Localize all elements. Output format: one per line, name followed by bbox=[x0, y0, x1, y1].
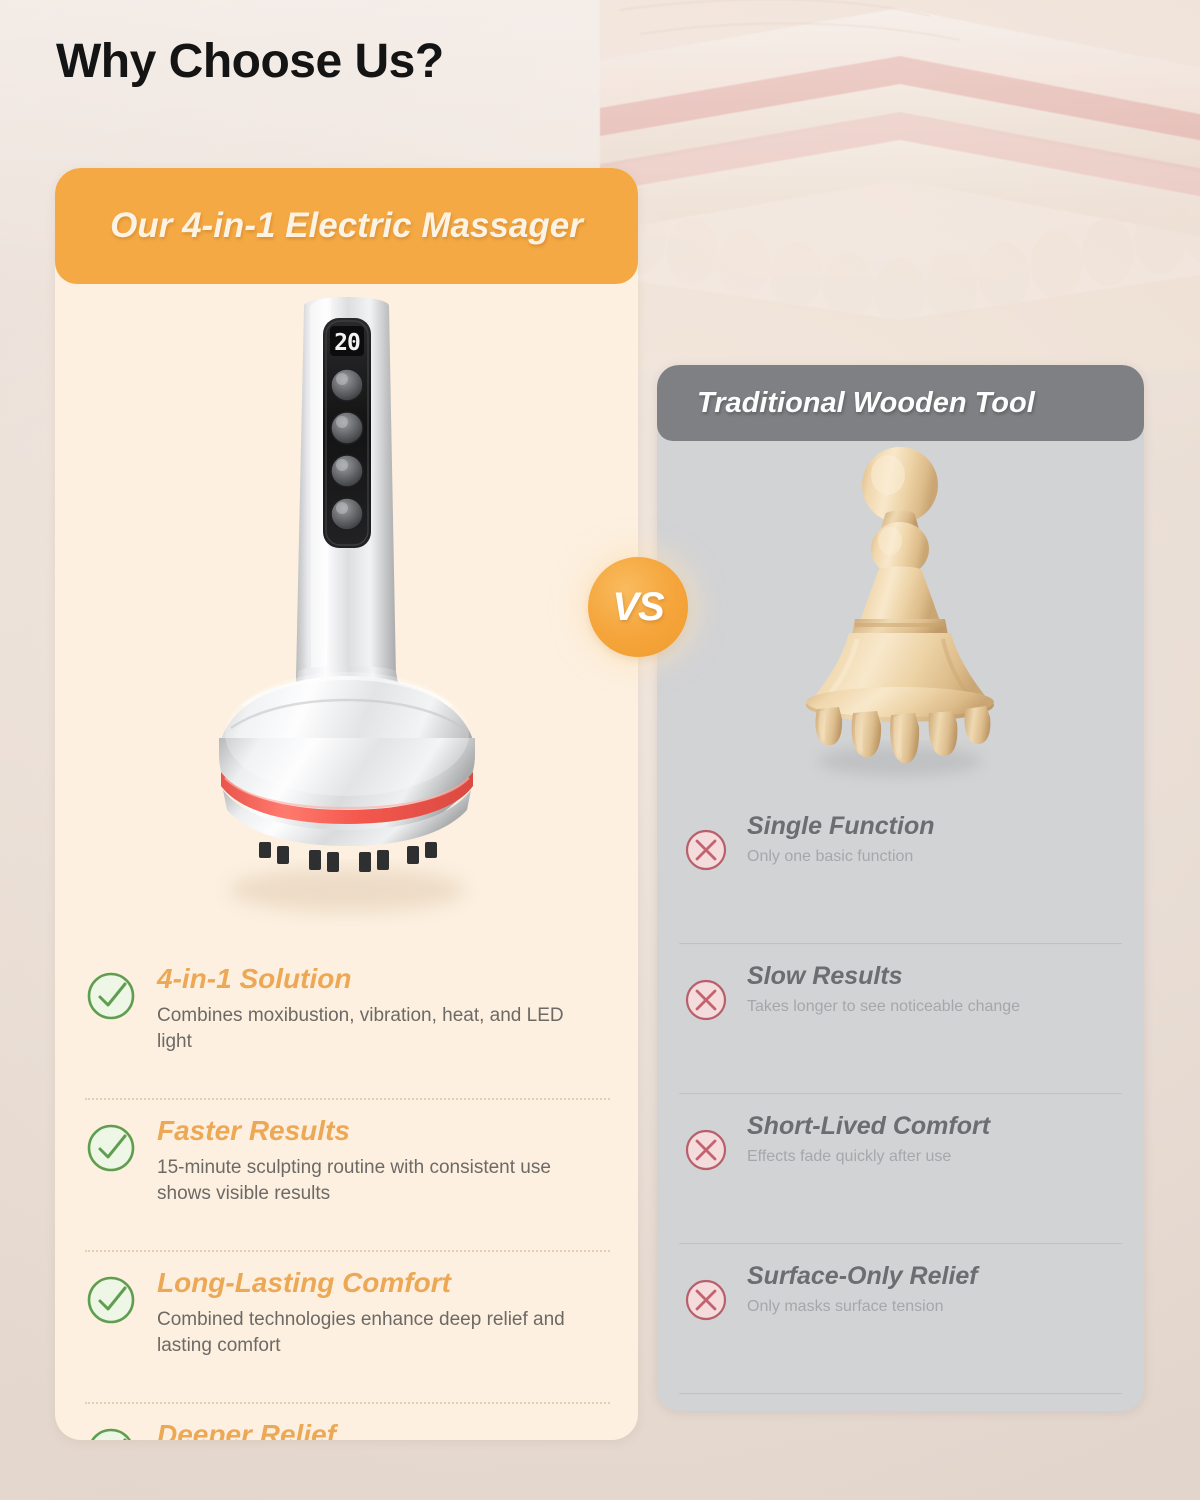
cross-circle-icon bbox=[683, 1277, 729, 1323]
limitation-row: Short-Lived Comfort Effects fade quickly… bbox=[657, 1095, 1144, 1245]
page-title: Why Choose Us? bbox=[56, 34, 444, 89]
our-product-header: Our 4-in-1 Electric Massager bbox=[55, 168, 638, 284]
wooden-tool-header: Traditional Wooden Tool bbox=[657, 365, 1144, 441]
vs-label: VS bbox=[612, 585, 663, 630]
wooden-tool-header-label: Traditional Wooden Tool bbox=[697, 387, 1035, 420]
check-circle-icon bbox=[85, 1426, 137, 1440]
limitation-title: Slow Results bbox=[747, 963, 1020, 991]
wooden-tool-limitation-list: Single Function Only one basic function … bbox=[657, 795, 1144, 1395]
feature-row: Deeper Relief Deeply penetrates and targ… bbox=[55, 1404, 638, 1440]
limitation-row: Slow Results Takes longer to see noticea… bbox=[657, 945, 1144, 1095]
our-product-header-label: Our 4-in-1 Electric Massager bbox=[80, 205, 613, 246]
wooden-tool-image bbox=[657, 443, 1144, 793]
feature-description: Combines moxibustion, vibration, heat, a… bbox=[157, 1003, 587, 1055]
limitation-description: Effects fade quickly after use bbox=[747, 1147, 990, 1168]
limitation-title: Single Function bbox=[747, 813, 935, 841]
electric-massager-image: 20 bbox=[55, 286, 638, 946]
cross-circle-icon bbox=[683, 1127, 729, 1173]
feature-description: 15-minute sculpting routine with consist… bbox=[157, 1155, 587, 1207]
limitation-title: Short-Lived Comfort bbox=[747, 1113, 990, 1141]
svg-text:20: 20 bbox=[334, 330, 360, 356]
feature-row: Long-Lasting Comfort Combined technologi… bbox=[55, 1252, 638, 1404]
limitation-row: Surface-Only Relief Only masks surface t… bbox=[657, 1245, 1144, 1395]
limitation-description: Only masks surface tension bbox=[747, 1297, 978, 1318]
feature-title: Long-Lasting Comfort bbox=[157, 1268, 587, 1299]
limitation-title: Surface-Only Relief bbox=[747, 1263, 978, 1291]
limitation-row: Single Function Only one basic function bbox=[657, 795, 1144, 945]
wooden-tool-panel: Traditional Wooden Tool bbox=[657, 365, 1144, 1411]
check-circle-icon bbox=[85, 1122, 137, 1174]
feature-row: Faster Results 15-minute sculpting routi… bbox=[55, 1100, 638, 1252]
cross-circle-icon bbox=[683, 977, 729, 1023]
limitation-description: Takes longer to see noticeable change bbox=[747, 997, 1020, 1018]
cross-circle-icon bbox=[683, 827, 729, 873]
check-circle-icon bbox=[85, 1274, 137, 1326]
feature-title: Faster Results bbox=[157, 1116, 587, 1147]
row-divider bbox=[679, 1393, 1122, 1395]
check-circle-icon bbox=[85, 970, 137, 1022]
limitation-description: Only one basic function bbox=[747, 847, 935, 868]
our-product-feature-list: 4-in-1 Solution Combines moxibustion, vi… bbox=[55, 948, 638, 1440]
feature-row: 4-in-1 Solution Combines moxibustion, vi… bbox=[55, 948, 638, 1100]
our-product-panel: Our 4-in-1 Electric Massager bbox=[55, 168, 638, 1440]
feature-title: 4-in-1 Solution bbox=[157, 964, 587, 995]
device-display: 20 bbox=[330, 326, 364, 356]
vs-badge: VS bbox=[588, 557, 688, 657]
feature-description: Combined technologies enhance deep relie… bbox=[157, 1307, 587, 1359]
feature-title: Deeper Relief bbox=[157, 1420, 560, 1440]
